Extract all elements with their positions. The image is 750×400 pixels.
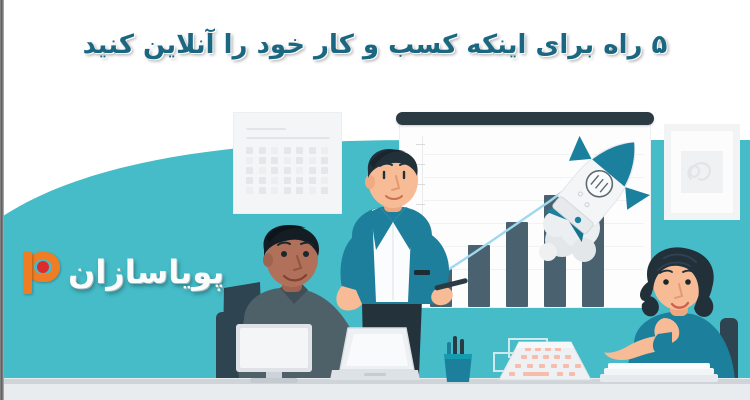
rocket-icon (540, 128, 650, 263)
left-edge-rule (0, 0, 4, 400)
monitor (232, 324, 316, 384)
frame-artwork (681, 151, 723, 193)
keyboard (497, 342, 593, 384)
framed-picture (664, 124, 740, 220)
pouyasazan-p-mark-icon (18, 248, 64, 296)
pen-cup (440, 336, 476, 382)
logo[interactable]: پویاسازان (18, 248, 224, 296)
whiteboard-top-bar (396, 112, 654, 125)
poster-canvas: ۵ راه برای اینکه کسب و کار خود را آنلاین… (0, 0, 750, 400)
logo-text: پویاسازان (68, 256, 224, 288)
page-title: ۵ راه برای اینکه کسب و کار خود را آنلاین… (0, 30, 750, 60)
laptop (330, 326, 420, 386)
pointing-hand (602, 332, 672, 366)
